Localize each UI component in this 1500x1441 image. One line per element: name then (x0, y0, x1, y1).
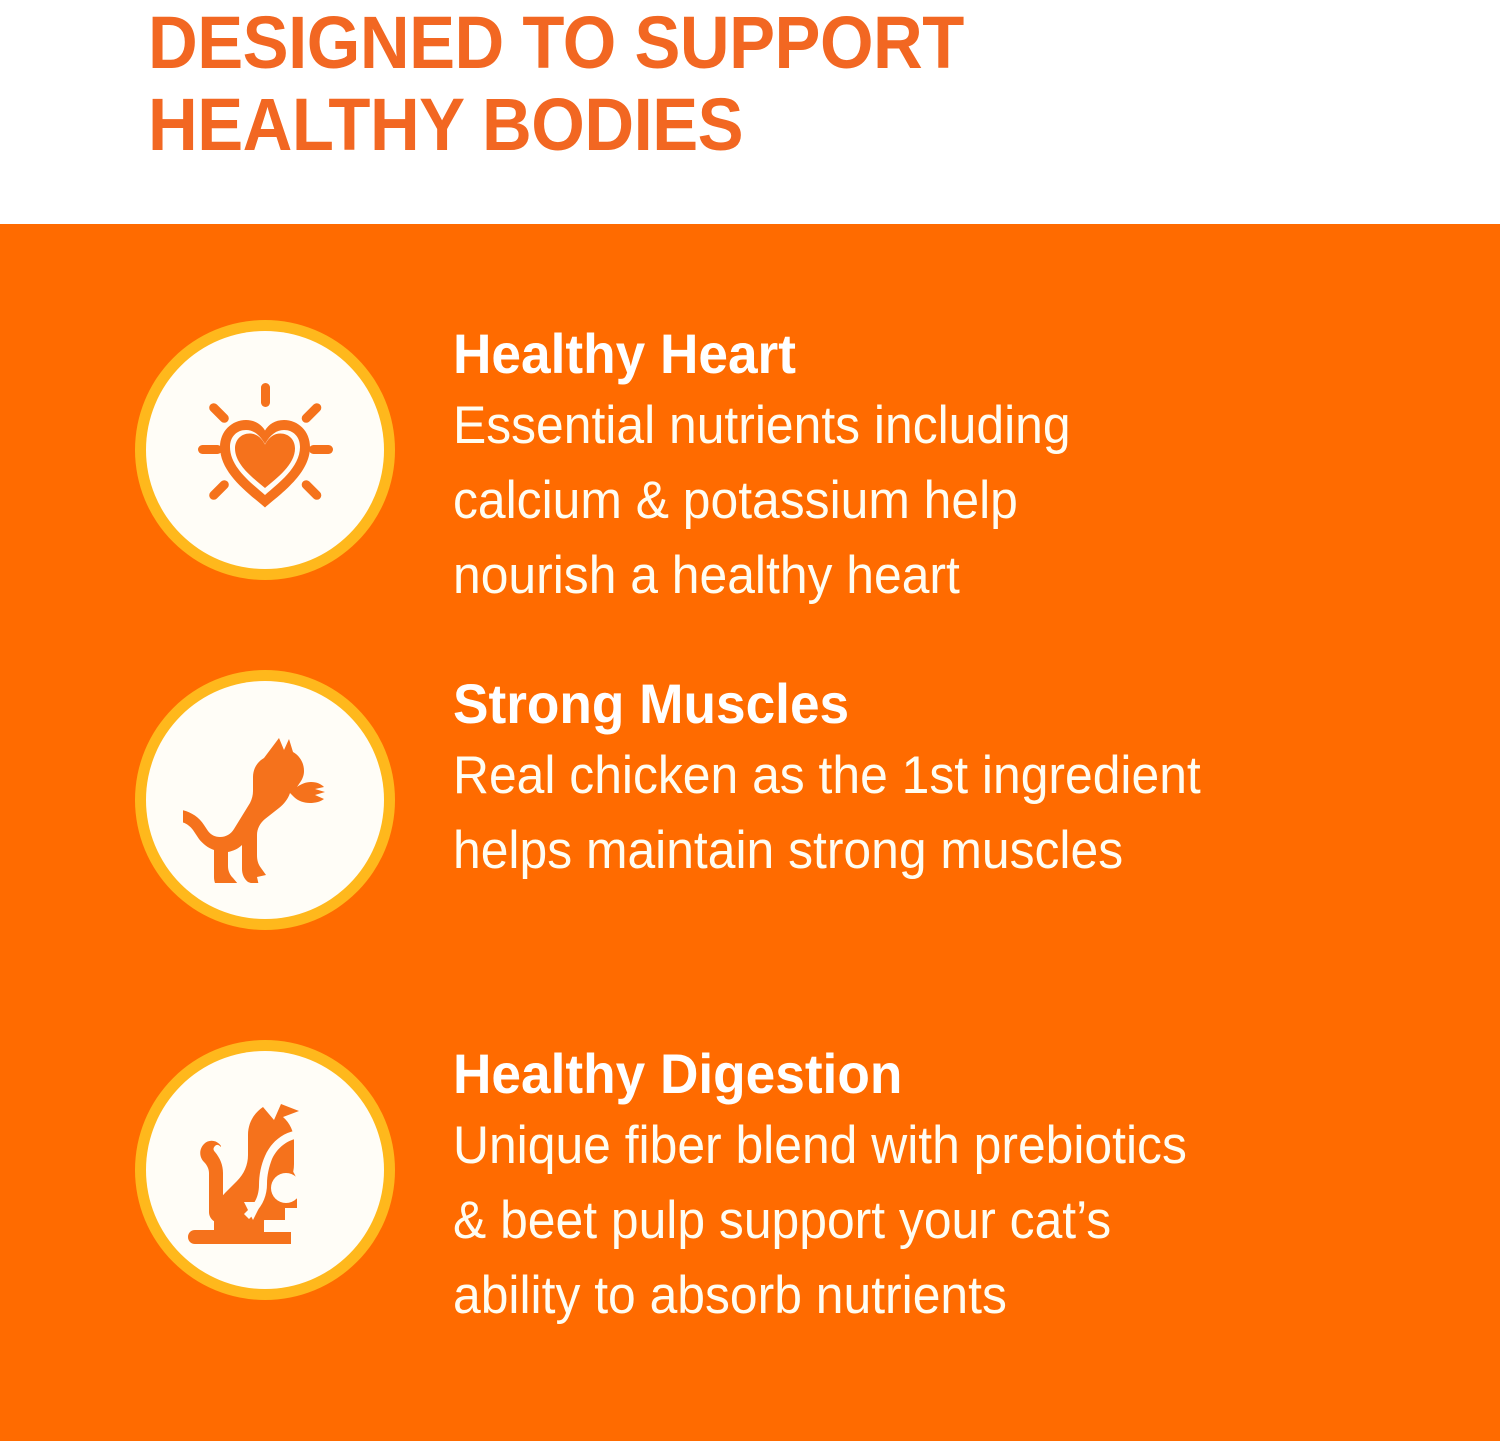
benefit-heading: Healthy Digestion (453, 1044, 1413, 1104)
benefit-icon-badge (135, 1040, 395, 1300)
benefit-row: Healthy Heart Essential nutrients includ… (0, 320, 1500, 613)
benefit-heading: Healthy Heart (453, 324, 1413, 384)
benefit-description: Essential nutrients including calcium & … (453, 388, 1402, 613)
jumping-cat-icon (183, 718, 348, 883)
benefit-description: Unique fiber blend with prebiotics & bee… (453, 1108, 1402, 1333)
heart-shine-icon (190, 375, 340, 525)
benefits-panel: Healthy Heart Essential nutrients includ… (0, 224, 1500, 1441)
page-title: DESIGNED TO SUPPORT HEALTHY BODIES (148, 0, 1405, 166)
benefit-icon-badge (135, 320, 395, 580)
header-band: DESIGNED TO SUPPORT HEALTHY BODIES (0, 0, 1500, 224)
benefit-text-block: Healthy Digestion Unique fiber blend wit… (453, 1040, 1463, 1333)
benefit-heading: Strong Muscles (453, 674, 1413, 734)
benefit-row: Healthy Digestion Unique fiber blend wit… (0, 1040, 1500, 1333)
benefit-description: Real chicken as the 1st ingredient helps… (453, 738, 1402, 888)
benefit-icon-badge (135, 670, 395, 930)
benefit-text-block: Strong Muscles Real chicken as the 1st i… (453, 670, 1463, 888)
benefit-row: Strong Muscles Real chicken as the 1st i… (0, 670, 1500, 930)
sitting-cat-digestion-icon (183, 1088, 348, 1253)
benefit-text-block: Healthy Heart Essential nutrients includ… (453, 320, 1463, 613)
